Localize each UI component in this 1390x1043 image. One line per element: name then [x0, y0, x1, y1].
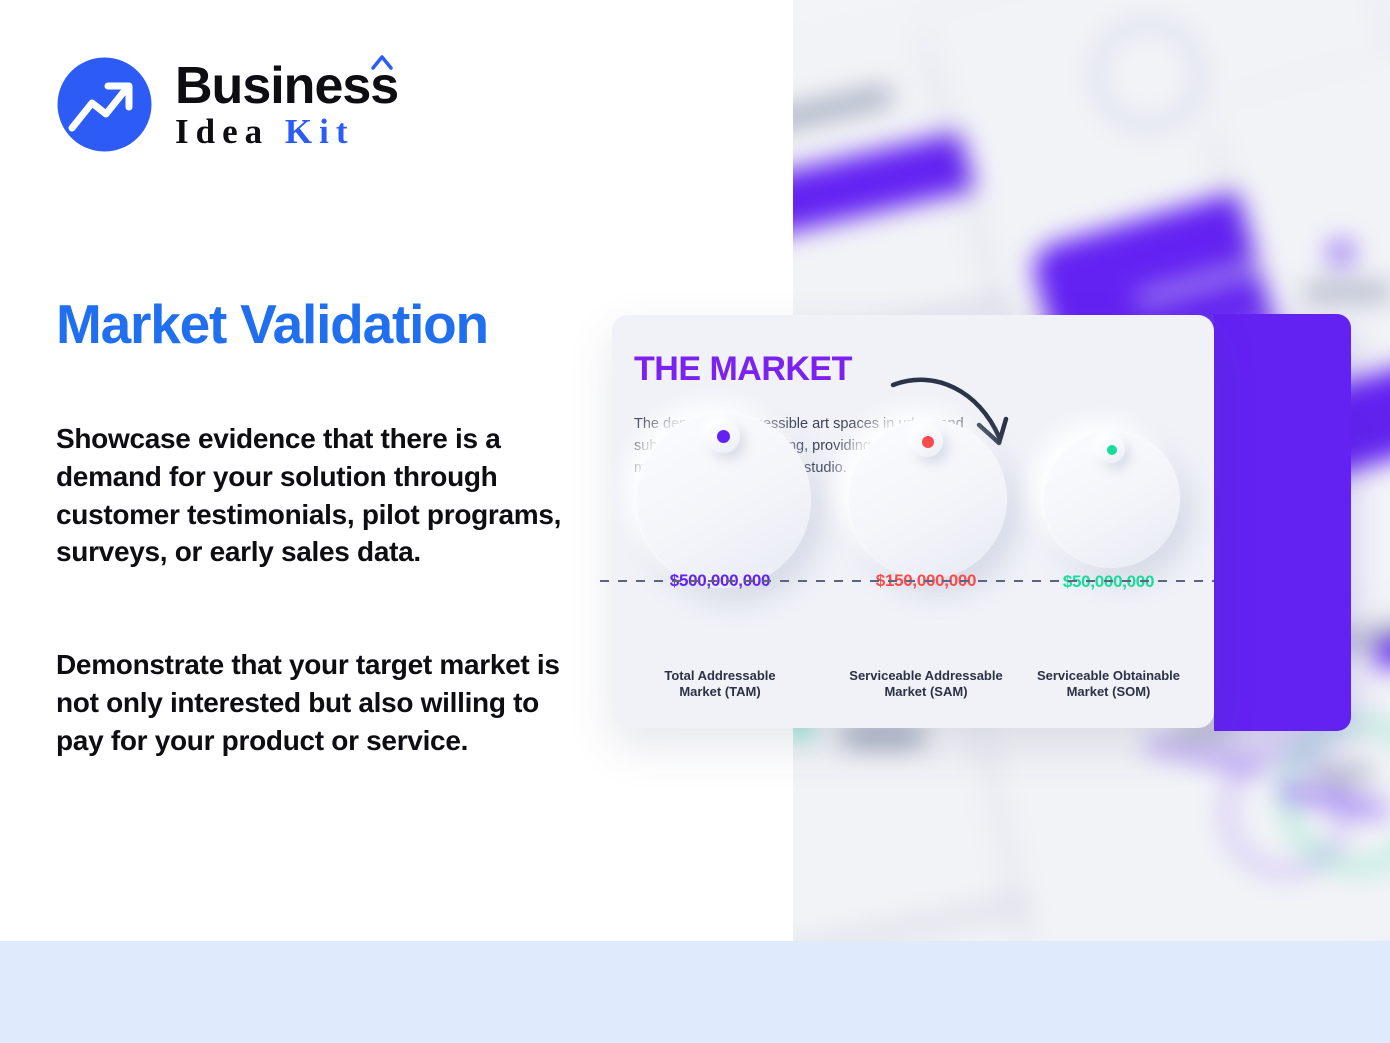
brand-name-bottom-accent: Kit: [285, 112, 355, 151]
brand-name-top: Business: [175, 62, 398, 111]
metric-label: Total Addressable Market (TAM): [620, 668, 820, 701]
body-paragraph-1: Showcase evidence that there is a demand…: [56, 420, 566, 571]
growth-chart-arrow-icon: [56, 56, 153, 153]
brand-wordmark: Business Idea Kit: [175, 58, 398, 150]
metric-amount: $50,000,000: [1016, 572, 1201, 592]
metric-label-line1: Total Addressable: [664, 668, 775, 683]
slide-page: Business Idea Kit Market Validation Show…: [0, 0, 1390, 1043]
metric-label: Serviceable Obtainable Market (SOM): [1016, 668, 1201, 701]
circumflex-accent-icon: [371, 54, 393, 70]
status-dot-icon: [1107, 445, 1117, 455]
metric-label-line2: Market (SAM): [884, 684, 967, 699]
brand-name-bottom-plain: Idea: [175, 112, 285, 151]
metric-label-line2: Market (TAM): [679, 684, 760, 699]
decor-dot: [1328, 240, 1354, 266]
metric-label-line1: Serviceable Obtainable: [1037, 668, 1180, 683]
metric-som[interactable]: $50,000,000 Serviceable Obtainable Marke…: [1016, 315, 1201, 715]
the-market-card[interactable]: THE MARKET The demand for accessible art…: [612, 315, 1214, 728]
decor-ring: [1093, 20, 1203, 130]
metric-nub: [1098, 436, 1125, 463]
metric-tam[interactable]: $500,000,000 Total Addressable Market (T…: [620, 315, 820, 715]
card-accent-block: [1214, 314, 1351, 731]
metric-nub: [912, 426, 943, 457]
metric-label-line2: Market (SOM): [1067, 684, 1151, 699]
market-metrics-group: $500,000,000 Total Addressable Market (T…: [612, 315, 1214, 728]
status-dot-icon: [922, 436, 934, 448]
page-title: Market Validation: [56, 296, 488, 354]
status-dot-icon: [717, 430, 730, 443]
decor-gray-bar: [1313, 768, 1373, 781]
metric-connector-line: [600, 580, 1214, 582]
brand-name-bottom: Idea Kit: [175, 114, 398, 151]
decor-gray-bar: [843, 725, 923, 747]
body-paragraph-2: Demonstrate that your target market is n…: [56, 646, 566, 759]
metric-nub: [707, 420, 740, 453]
metric-sam[interactable]: $150,000,000 Serviceable Addressable Mar…: [826, 315, 1026, 715]
metric-label-line1: Serviceable Addressable: [849, 668, 1002, 683]
bottom-color-band: [0, 941, 1390, 1043]
decor-gray-bar: [1303, 285, 1390, 299]
metric-label: Serviceable Addressable Market (SAM): [826, 668, 1026, 701]
brand-logo: Business Idea Kit: [56, 56, 398, 153]
